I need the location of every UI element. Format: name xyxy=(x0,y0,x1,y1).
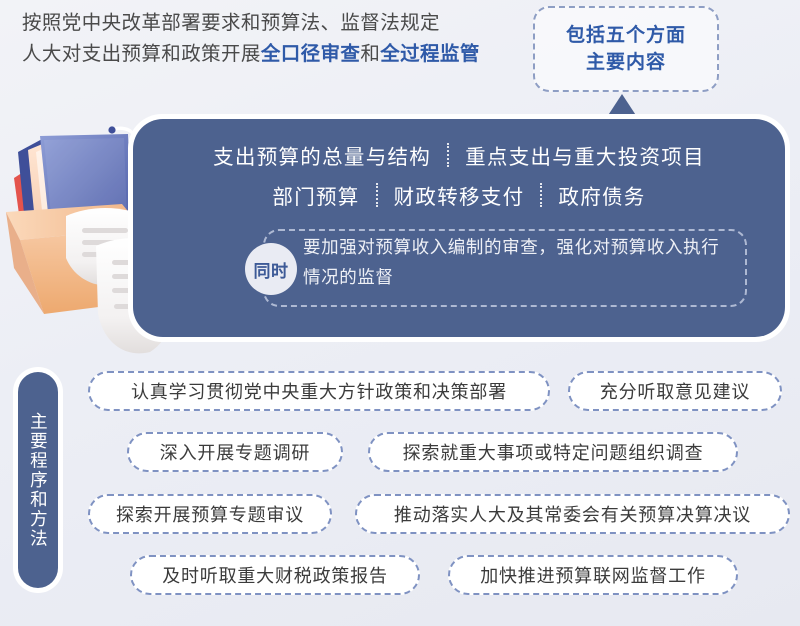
callout-badge-line-2: 主要内容 xyxy=(586,49,666,76)
note-text: 要加强对预算收入编制的审查，强化对预算收入执行情况的监督 xyxy=(303,232,733,292)
section-label-text: 主要程序和方法 xyxy=(28,412,49,549)
method-pill[interactable]: 推动落实人大及其常委会有关预算决算决议 xyxy=(355,494,790,534)
header-text-block: 按照党中央改革部署要求和预算法、监督法规定 人大对支出预算和政策开展全口径审查和… xyxy=(22,8,542,70)
header-highlight-full-scope: 全口径审查 xyxy=(261,43,361,65)
method-pill-label: 及时听取重大财税政策报告 xyxy=(162,562,388,588)
method-pill[interactable]: 探索开展预算专题审议 xyxy=(88,494,332,534)
note-badge-circle: 同时 xyxy=(245,243,297,295)
method-pill-label: 探索开展预算专题审议 xyxy=(116,501,304,527)
header-line-1: 按照党中央改革部署要求和预算法、监督法规定 xyxy=(22,8,542,39)
method-pill-label: 深入开展专题调研 xyxy=(160,439,310,465)
method-pill-label: 认真学习贯彻党中央重大方针政策和决策部署 xyxy=(131,378,507,404)
topics-row-2: 部门预算 财政转移支付 政府债务 xyxy=(133,175,785,215)
method-pill[interactable]: 及时听取重大财税政策报告 xyxy=(130,555,420,595)
method-pill[interactable]: 探索就重大事项或特定问题组织调查 xyxy=(368,432,738,472)
topic-item: 财政转移支付 xyxy=(378,180,541,210)
header-line-2-conjunction: 和 xyxy=(360,43,380,65)
topics-container: 支出预算的总量与结构 重点支出与重大投资项目 部门预算 财政转移支付 政府债务 xyxy=(133,135,785,215)
callout-badge-line-1: 包括五个方面 xyxy=(566,22,686,49)
header-line-2: 人大对支出预算和政策开展全口径审查和全过程监管 xyxy=(22,39,542,70)
topics-row-1: 支出预算的总量与结构 重点支出与重大投资项目 xyxy=(133,135,785,175)
method-pill[interactable]: 深入开展专题调研 xyxy=(127,432,343,472)
section-label-vertical: 主要程序和方法 xyxy=(18,372,58,588)
method-pill-label: 探索就重大事项或特定问题组织调查 xyxy=(403,439,704,465)
header-line-2-prefix: 人大对支出预算和政策开展 xyxy=(22,43,261,65)
topic-item: 部门预算 xyxy=(256,180,375,210)
note-badge-label: 同时 xyxy=(254,257,289,282)
method-pill[interactable]: 加快推进预算联网监督工作 xyxy=(448,555,738,595)
method-pill[interactable]: 充分听取意见建议 xyxy=(568,371,782,411)
topic-item: 支出预算的总量与结构 xyxy=(197,140,447,170)
method-pill-label: 推动落实人大及其常委会有关预算决算决议 xyxy=(394,501,751,527)
method-pill-label: 加快推进预算联网监督工作 xyxy=(480,562,706,588)
topic-item: 重点支出与重大投资项目 xyxy=(449,140,721,170)
main-panel: 支出预算的总量与结构 重点支出与重大投资项目 部门预算 财政转移支付 政府债务 … xyxy=(133,119,785,337)
infographic-canvas: 按照党中央改革部署要求和预算法、监督法规定 人大对支出预算和政策开展全口径审查和… xyxy=(0,0,800,626)
topic-item: 政府债务 xyxy=(542,180,661,210)
callout-badge: 包括五个方面 主要内容 xyxy=(533,6,719,92)
header-highlight-full-process: 全过程监管 xyxy=(380,43,480,65)
method-pill[interactable]: 认真学习贯彻党中央重大方针政策和决策部署 xyxy=(88,371,550,411)
method-pill-label: 充分听取意见建议 xyxy=(600,378,750,404)
